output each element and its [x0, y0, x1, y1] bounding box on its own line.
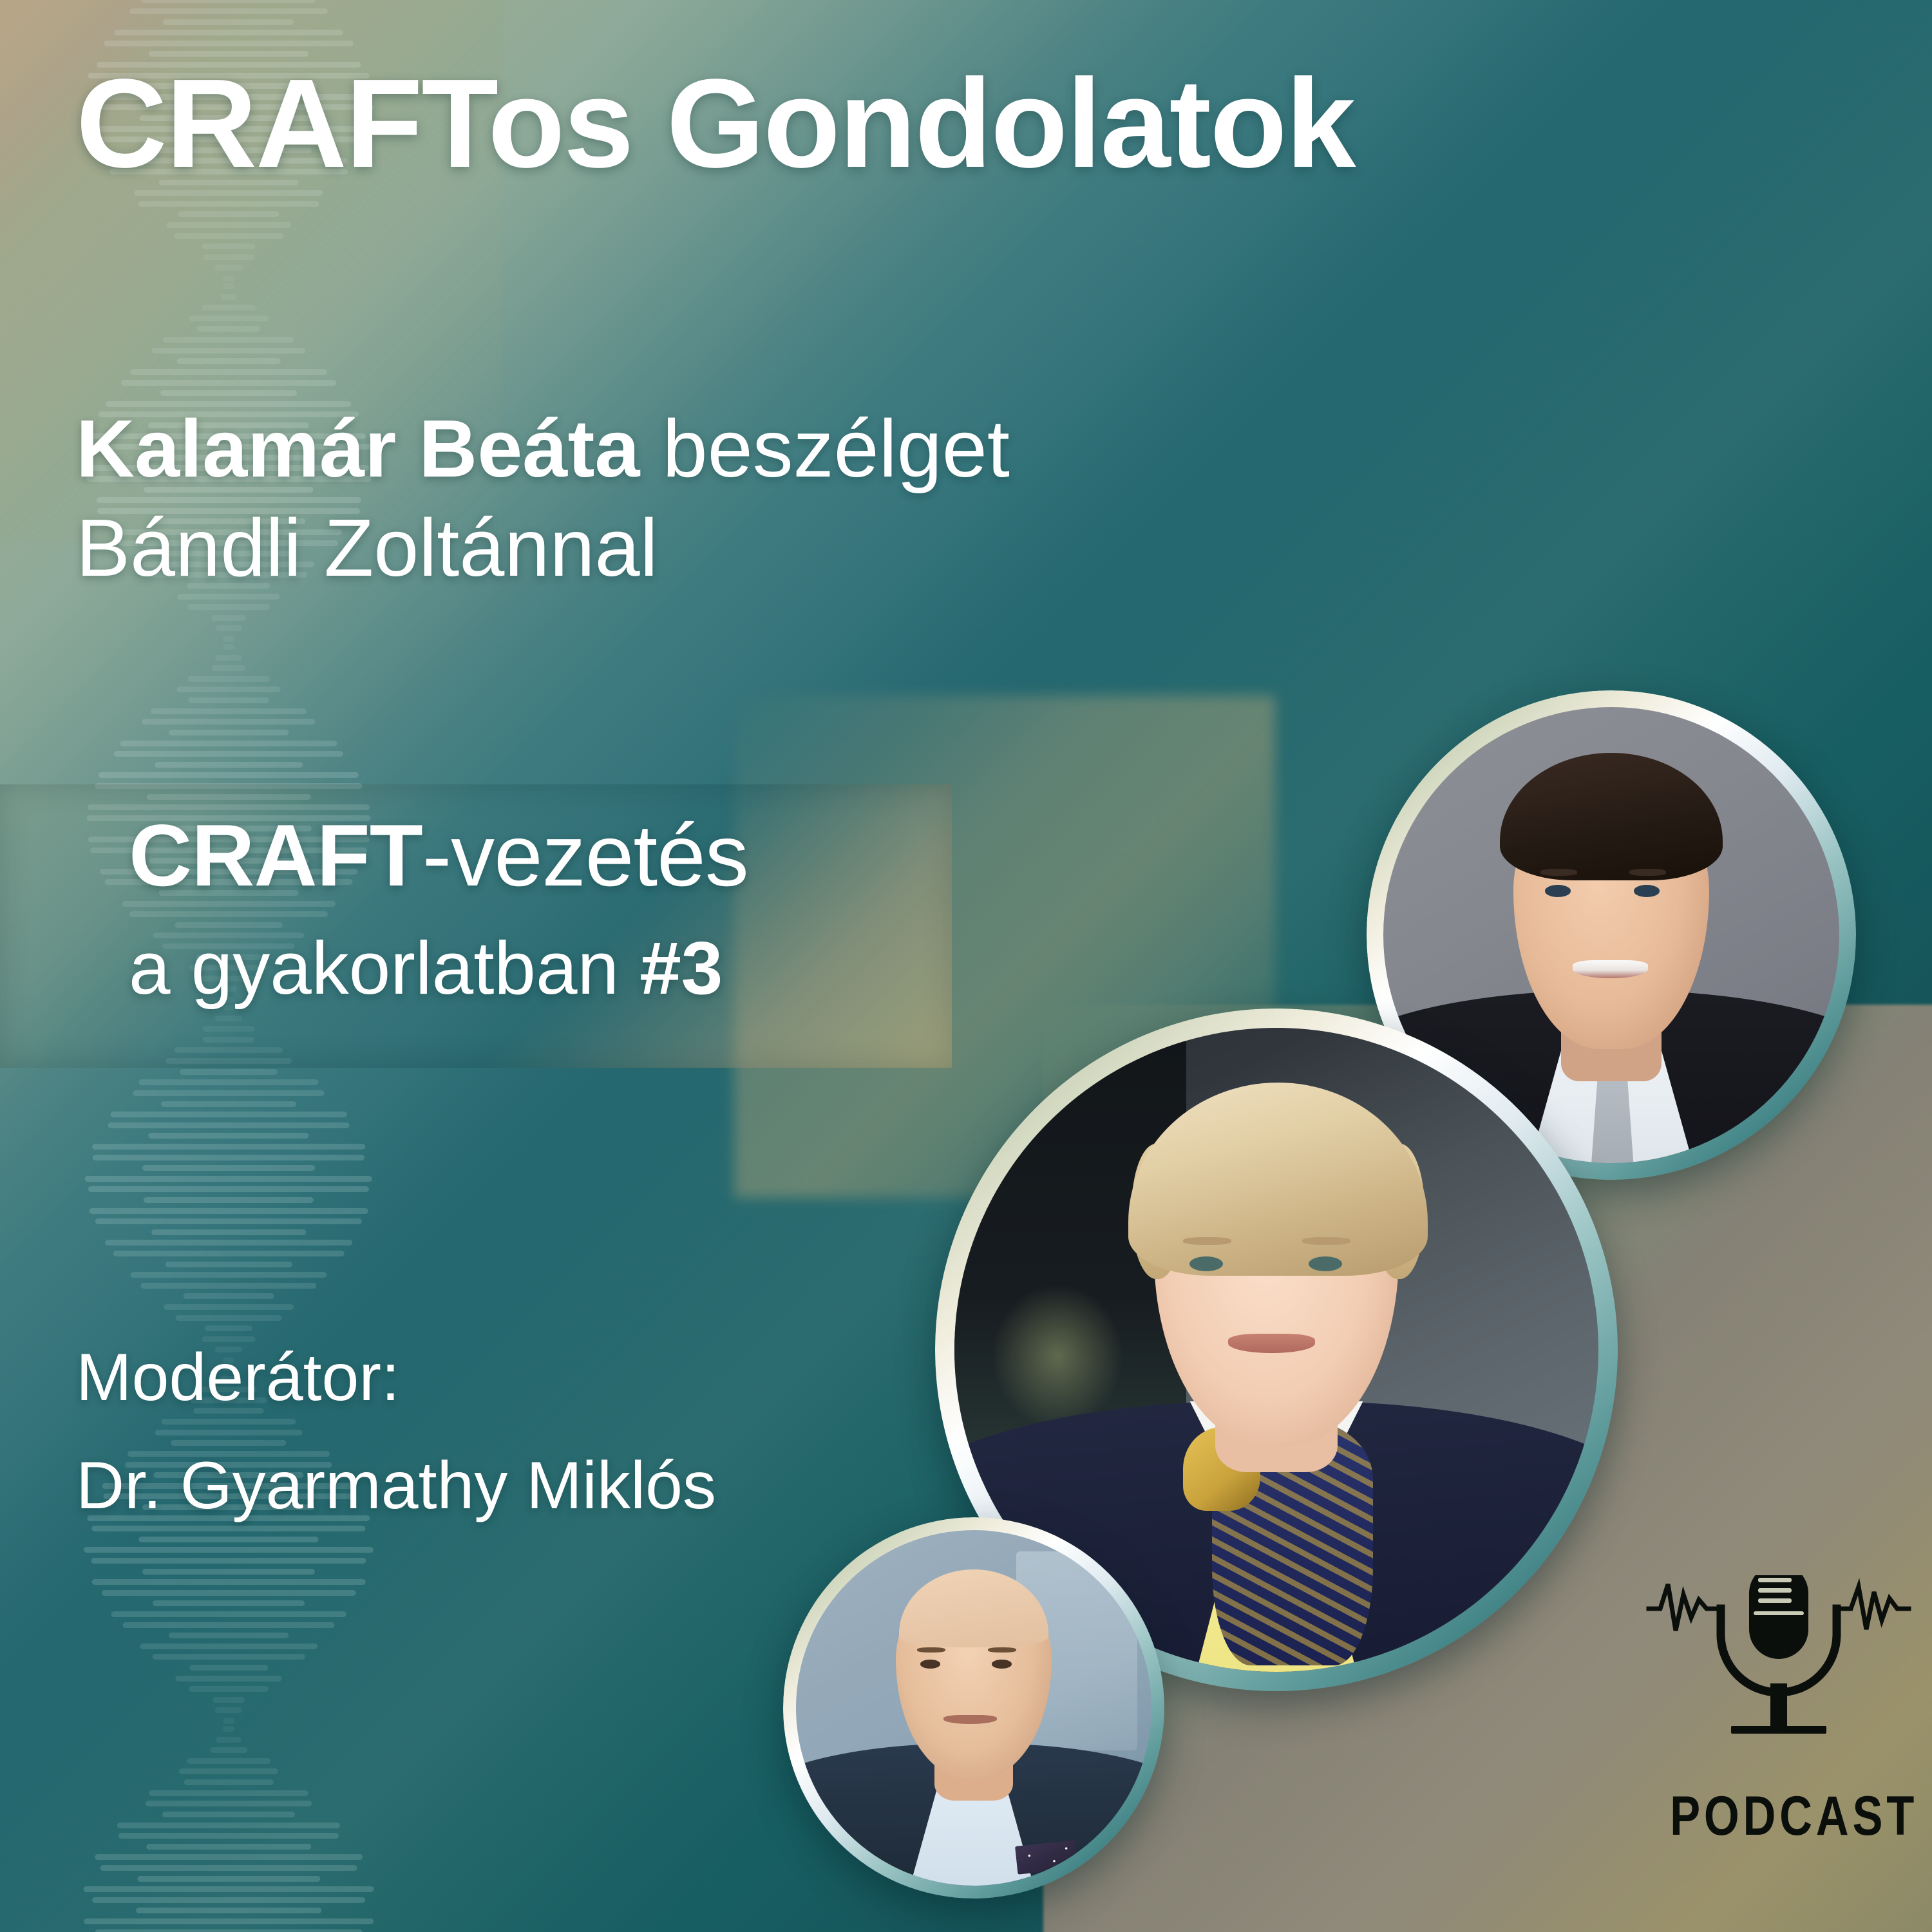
series-subtitle-text: a gyakorlatban — [129, 926, 639, 1010]
subtitle-line-1: Kalamár Beáta beszélget — [76, 403, 1010, 494]
series-brand: CRAFT — [129, 806, 422, 904]
podcast-label: PODCAST — [1670, 1785, 1888, 1848]
moderator-label: Moderátor: — [76, 1323, 716, 1432]
series-title-line: CRAFT-vezetés — [129, 804, 953, 907]
series-subtitle-line: a gyakorlatban #3 — [129, 923, 953, 1013]
guest-name-primary: Kalamár Beáta — [76, 403, 639, 494]
portrait-photo — [796, 1530, 1151, 1886]
podcast-badge: PODCAST — [1646, 1575, 1911, 1852]
avatar-gyarmathy-miklos — [783, 1517, 1164, 1899]
page-title: CRAFTos Gondolatok — [76, 57, 1853, 191]
microphone-waveform-icon — [1646, 1575, 1911, 1788]
series-badge-text: CRAFT-vezetés a gyakorlatban #3 — [129, 804, 953, 1014]
avatar-photo-clip — [796, 1530, 1151, 1886]
episode-number: #3 — [639, 926, 723, 1010]
moderator-name: Dr. Gyarmathy Miklós — [76, 1432, 716, 1540]
guest-name-secondary: Bándli Zoltánnal — [76, 498, 1622, 598]
podcast-cover: CRAFTos Gondolatok Kalamár Beáta beszélg… — [0, 0, 1932, 1932]
subtitle-verb: beszélget — [639, 403, 1009, 494]
subtitle: Kalamár Beáta beszélget Bándli Zoltánnal — [76, 399, 1622, 597]
series-brand-suffix: -vezetés — [422, 806, 748, 904]
moderator-block: Moderátor: Dr. Gyarmathy Miklós — [76, 1323, 716, 1540]
